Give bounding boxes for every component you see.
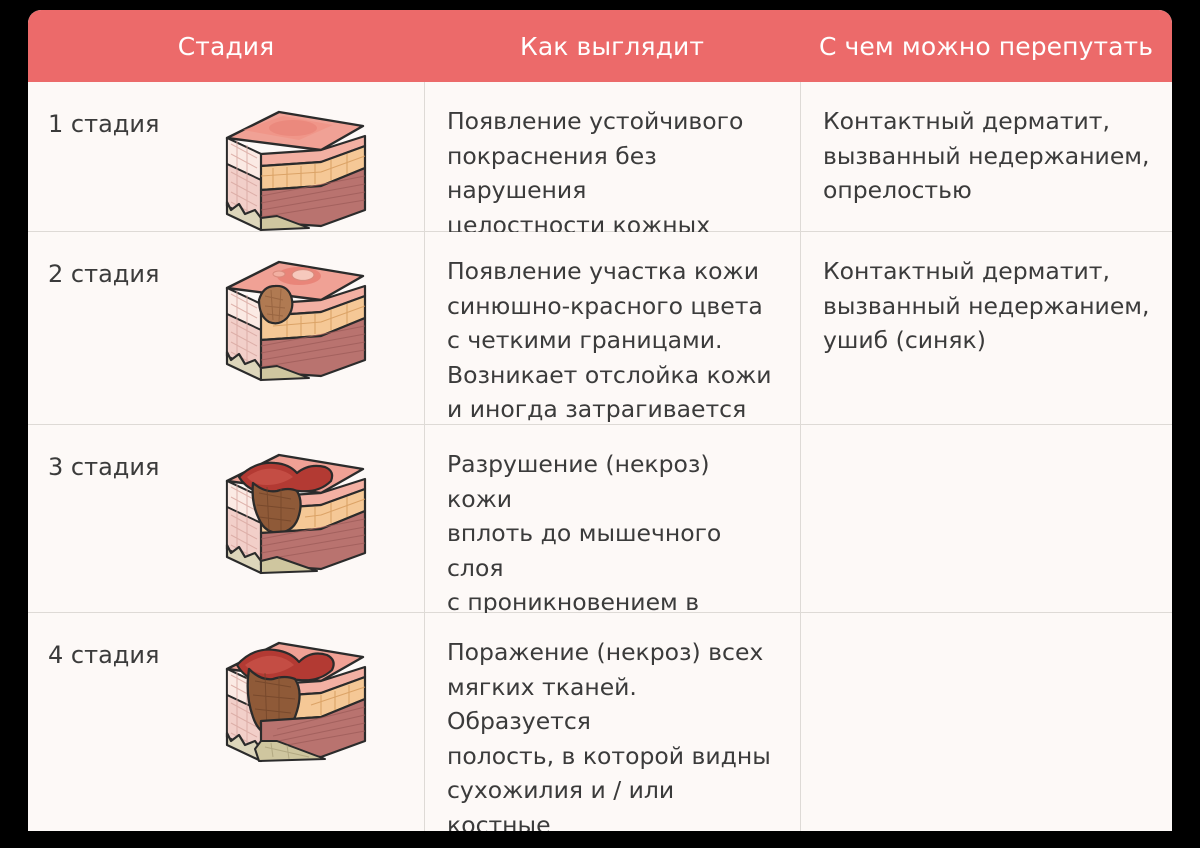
- skin-cross-section-stage-2-icon: [159, 256, 424, 382]
- stage-cell: 1 стадия: [28, 82, 424, 231]
- table-row: 1 стадия: [28, 82, 1172, 232]
- stage-cell: 3 стадия: [28, 425, 424, 612]
- pressure-ulcer-stages-table: Стадия Как выглядит С чем можно перепута…: [28, 10, 1172, 831]
- table-header-row: Стадия Как выглядит С чем можно перепута…: [28, 10, 1172, 82]
- stage-label: 3 стадия: [48, 449, 159, 481]
- table-row: 2 стадия: [28, 232, 1172, 425]
- confusable-cell: Контактный дерматит, вызванный недержани…: [800, 232, 1172, 424]
- appearance-cell: Появление участка кожи синюшно-красного …: [424, 232, 800, 424]
- table-row: 4 стадия: [28, 613, 1172, 831]
- table-row: 3 стадия: [28, 425, 1172, 613]
- appearance-cell: Разрушение (некроз) кожи вплоть до мышеч…: [424, 425, 800, 612]
- skin-cross-section-stage-1-icon: [159, 106, 424, 232]
- skin-cross-section-stage-4-icon: [159, 637, 424, 763]
- skin-cross-section-stage-3-icon: [159, 449, 424, 575]
- column-header-stage: Стадия: [28, 10, 424, 82]
- stage-label: 4 стадия: [48, 637, 159, 669]
- stage-cell: 2 стадия: [28, 232, 424, 424]
- stage-cell: 4 стадия: [28, 613, 424, 831]
- confusable-cell: [800, 613, 1172, 831]
- confusable-cell: [800, 425, 1172, 612]
- column-header-confusable: С чем можно перепутать: [800, 10, 1172, 82]
- appearance-cell: Появление устойчивого покраснения без на…: [424, 82, 800, 231]
- column-header-appearance: Как выглядит: [424, 10, 800, 82]
- stage-label: 2 стадия: [48, 256, 159, 288]
- appearance-cell: Поражение (некроз) всех мягких тканей. О…: [424, 613, 800, 831]
- confusable-cell: Контактный дерматит, вызванный недержани…: [800, 82, 1172, 231]
- stage-label: 1 стадия: [48, 106, 159, 138]
